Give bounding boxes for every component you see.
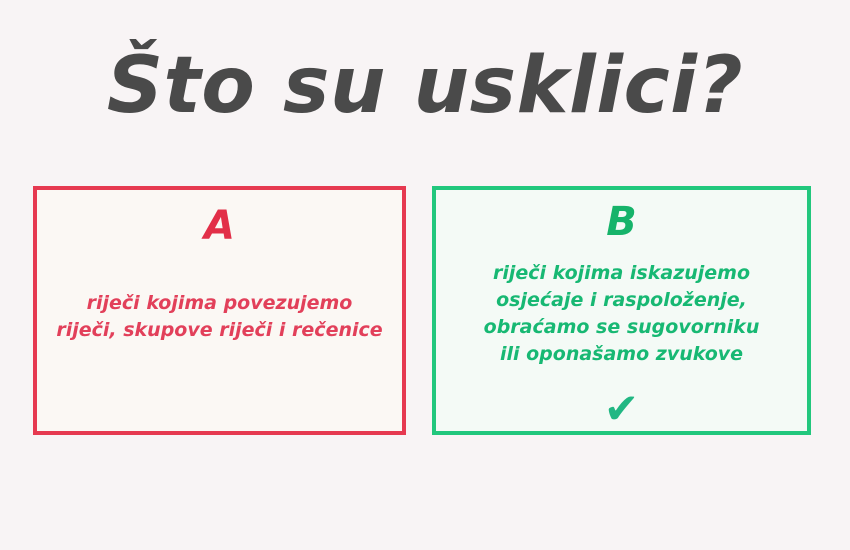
answer-b-line-1: riječi kojima iskazujemo bbox=[484, 260, 760, 287]
answer-letter-b: B bbox=[606, 202, 637, 242]
page-title: Što su usklici? bbox=[0, 44, 850, 130]
answer-a-line-2: riječi, skupove riječi i rečenice bbox=[56, 317, 382, 344]
quiz-slide: Što su usklici? A riječi kojima povezuje… bbox=[0, 0, 850, 550]
answer-option-b[interactable]: B riječi kojima iskazujemo osjećaje i ra… bbox=[432, 186, 811, 435]
answer-b-line-3: obraćamo se sugovorniku bbox=[484, 314, 760, 341]
answer-text-a: riječi kojima povezujemo riječi, skupove… bbox=[46, 290, 392, 344]
answer-a-line-1: riječi kojima povezujemo bbox=[56, 290, 382, 317]
answer-b-line-2: osjećaje i raspoloženje, bbox=[484, 287, 760, 314]
answer-text-b: riječi kojima iskazujemo osjećaje i rasp… bbox=[474, 260, 770, 368]
answer-b-line-4: ili oponašamo zvukove bbox=[484, 341, 760, 368]
checkmark-icon: ✔ bbox=[604, 388, 639, 430]
answer-option-a[interactable]: A riječi kojima povezujemo riječi, skupo… bbox=[33, 186, 406, 435]
answer-letter-a: A bbox=[204, 206, 235, 246]
